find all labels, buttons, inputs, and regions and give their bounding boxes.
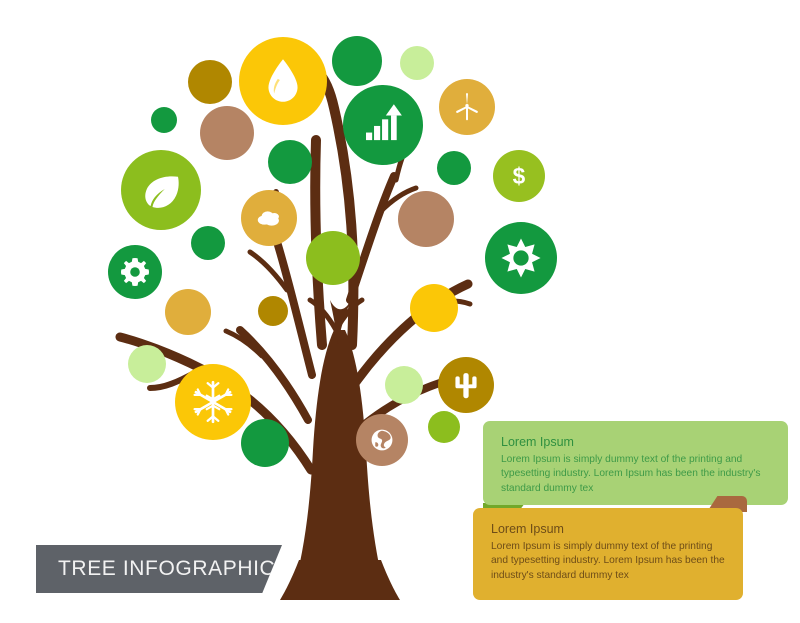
- water-drop-icon-circle[interactable]: [239, 37, 327, 125]
- callout-green[interactable]: Lorem Ipsum Lorem Ipsum is simply dummy …: [483, 421, 788, 505]
- gear-icon: [121, 258, 149, 286]
- decorative-circle: [410, 284, 458, 332]
- tree-infographic-canvas: $: [0, 0, 800, 623]
- decorative-circle: [400, 46, 434, 80]
- title-banner: TREE INFOGRAPHIC: [36, 545, 282, 593]
- leaf-icon-circle[interactable]: [121, 150, 201, 230]
- decorative-circle: [268, 140, 312, 184]
- callout-yellow[interactable]: Lorem Ipsum Lorem Ipsum is simply dummy …: [473, 508, 743, 600]
- callout-green-heading: Lorem Ipsum: [501, 434, 770, 451]
- gear-icon-circle[interactable]: [108, 245, 162, 299]
- snowflake-icon-circle[interactable]: [175, 364, 251, 440]
- callout-yellow-body: Lorem Ipsum is simply dummy text of the …: [491, 540, 725, 583]
- wind-turbine-icon-circle[interactable]: [439, 79, 495, 135]
- page-title: TREE INFOGRAPHIC: [36, 557, 275, 581]
- cloud-icon-circle[interactable]: [241, 190, 297, 246]
- decorative-circle: [241, 419, 289, 467]
- decorative-circle: [151, 107, 177, 133]
- decorative-circle: [437, 151, 471, 185]
- callout-green-body: Lorem Ipsum is simply dummy text of the …: [501, 453, 770, 496]
- dollar-icon: [513, 163, 526, 189]
- decorative-circle: [188, 60, 232, 104]
- decorative-circle: [258, 296, 288, 326]
- decorative-circle: [165, 289, 211, 335]
- decorative-circle: [191, 226, 225, 260]
- decorative-circle: [398, 191, 454, 247]
- decorative-circle: [128, 345, 166, 383]
- decorative-circle: [200, 106, 254, 160]
- tree-branches: [120, 72, 488, 470]
- decorative-circle: [332, 36, 382, 86]
- sun-icon-circle[interactable]: [485, 222, 557, 294]
- growth-chart-icon-circle[interactable]: [343, 85, 423, 165]
- callout-yellow-heading: Lorem Ipsum: [491, 521, 725, 538]
- cactus-icon-circle[interactable]: [438, 357, 494, 413]
- decorative-circle: [306, 231, 360, 285]
- globe-icon-circle[interactable]: [356, 414, 408, 466]
- dollar-icon-circle[interactable]: [493, 150, 545, 202]
- tree-trunk-base: [280, 560, 400, 600]
- globe-icon: [372, 430, 393, 451]
- decorative-circle: [385, 366, 423, 404]
- decorative-circle: [428, 411, 460, 443]
